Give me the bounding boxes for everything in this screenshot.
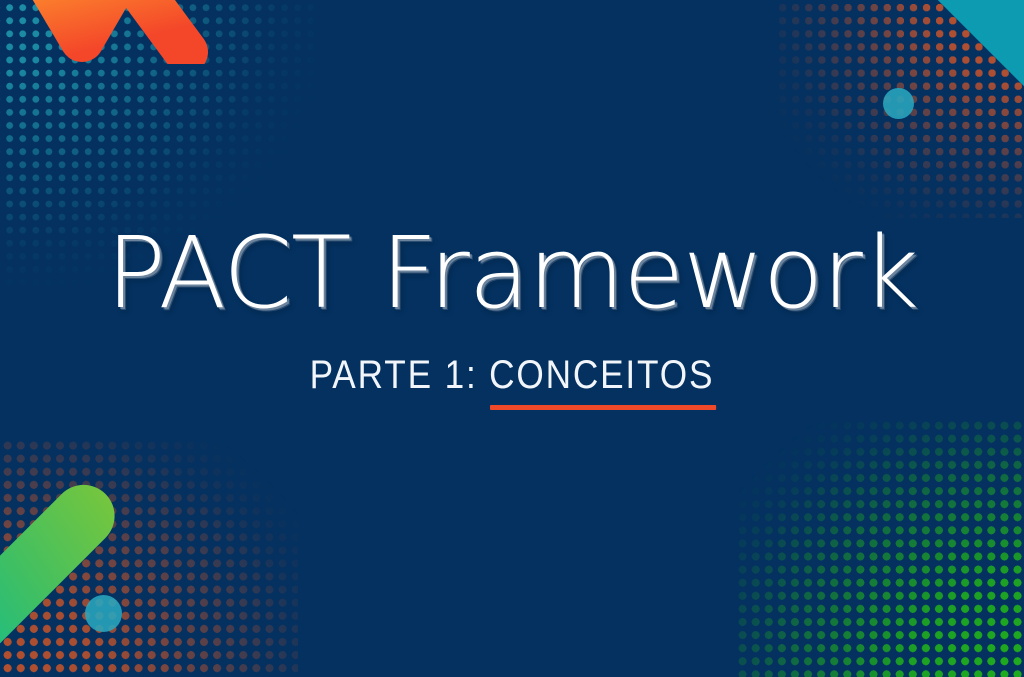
red-halftone-dots-top — [776, 0, 1024, 218]
green-diagonal-capsule — [0, 472, 127, 668]
page-title: PACT Framework — [0, 222, 1024, 327]
teal-circle-topright — [883, 88, 914, 119]
subtitle-part-label: PARTE 1: — [310, 353, 478, 398]
subtitle: PARTE 1: CONCEITOS — [310, 353, 715, 410]
teal-circle-bottomleft — [85, 595, 122, 632]
subtitle-emphasis-wrap: CONCEITOS — [489, 353, 714, 410]
title-slide: PACT Framework PARTE 1: CONCEITOS — [0, 0, 1024, 677]
orange-zigzag-icon — [8, 0, 238, 64]
red-halftone-dots-bottom — [0, 439, 298, 677]
subtitle-underline-accent — [490, 405, 716, 410]
green-halftone-dots — [736, 419, 1024, 677]
title-block: PACT Framework PARTE 1: CONCEITOS — [0, 222, 1024, 410]
subtitle-emphasis-label: CONCEITOS — [489, 353, 714, 397]
teal-diagonal-capsule — [911, 0, 1024, 108]
